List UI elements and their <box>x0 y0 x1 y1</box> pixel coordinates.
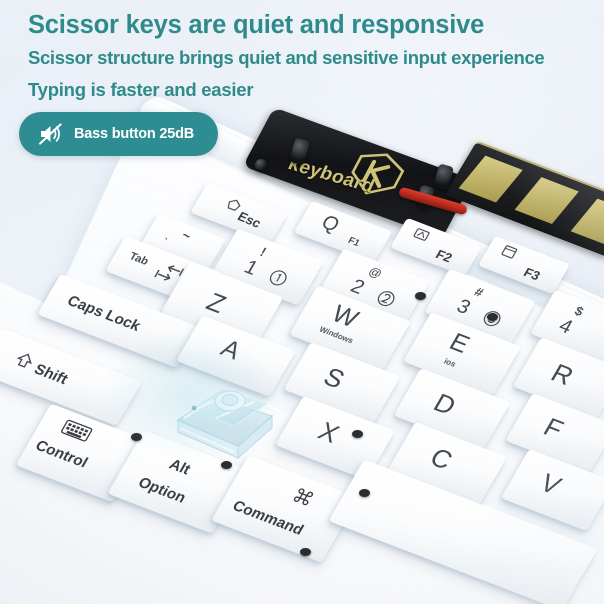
key-label-z: Z <box>202 289 230 317</box>
key-sublabel-ios: ios <box>442 358 457 369</box>
home-pentagon-icon <box>225 197 243 212</box>
rubber-foot <box>131 433 142 441</box>
key-label-r: R <box>547 360 578 390</box>
key-label-s: S <box>320 363 349 392</box>
key-label-shift: Shift <box>32 362 71 387</box>
capacitor-icon <box>255 159 267 171</box>
rubber-foot <box>487 313 498 321</box>
key-label-2: 2 <box>347 276 368 298</box>
page-tagline: Typing is faster and easier <box>28 78 588 101</box>
contact-pad <box>459 156 523 203</box>
key-sublabel-backtick: ` <box>160 238 168 247</box>
key-label-control: Control <box>33 438 90 470</box>
display-icon <box>412 227 431 242</box>
key-sublabel-hash: # <box>472 285 485 299</box>
key-label-3: 3 <box>453 296 474 318</box>
rubber-foot <box>300 548 311 556</box>
bass-button-label: Bass button 25dB <box>74 126 194 142</box>
window-icon <box>500 244 518 259</box>
key-sublabel-exclaim: ! <box>258 245 269 258</box>
contact-pad <box>571 199 604 246</box>
key-label-1: 1 <box>241 257 262 279</box>
key-label-tab: Tab <box>127 251 150 267</box>
headline-block: Scissor keys are quiet and responsive Sc… <box>28 10 588 101</box>
scissor-switch-mechanism <box>168 368 286 460</box>
rubber-foot <box>352 430 363 438</box>
key-label-f: F <box>540 414 568 442</box>
key-label-f2: F2 <box>434 248 455 265</box>
key-label-w: W <box>327 302 362 332</box>
bass-button-badge[interactable]: Bass button 25dB <box>19 112 218 156</box>
key-label-esc: Esc <box>235 210 263 230</box>
rubber-foot <box>415 292 426 300</box>
page-title: Scissor keys are quiet and responsive <box>28 10 588 41</box>
key-label-x: X <box>314 418 343 447</box>
key-sublabel-f1: F1 <box>346 236 361 248</box>
key-label-f3: F3 <box>522 266 543 283</box>
command-glyph-icon <box>290 486 316 508</box>
speaker-muted-icon <box>38 123 63 145</box>
key-label-4: 4 <box>555 316 576 338</box>
circled-1-icon <box>266 267 290 288</box>
circled-2-icon <box>374 288 398 309</box>
key-sublabel-option: Option <box>136 475 189 505</box>
key-sublabel-at: @ <box>367 265 384 280</box>
rubber-foot <box>221 461 232 469</box>
rubber-foot <box>359 489 370 497</box>
key-label-e: E <box>445 330 473 358</box>
key-label-alt: Alt <box>167 457 193 477</box>
key-label-q: Q <box>318 212 343 235</box>
shift-arrow-icon <box>12 350 37 372</box>
key-label-d: D <box>430 389 461 419</box>
key-label-tilde: ~ <box>180 229 194 243</box>
product-feature-image: keyboard Esc Q F1 <box>0 0 604 604</box>
keyboard-icon <box>60 419 94 443</box>
key-label-command: Command <box>230 498 306 537</box>
contact-pad <box>515 177 579 224</box>
key-label-c: C <box>426 444 457 474</box>
page-subtitle: Scissor structure brings quiet and sensi… <box>28 46 588 69</box>
key-sublabel-dollar: $ <box>573 304 586 318</box>
key-label-a: A <box>217 336 245 364</box>
key-label-v: V <box>536 470 565 499</box>
